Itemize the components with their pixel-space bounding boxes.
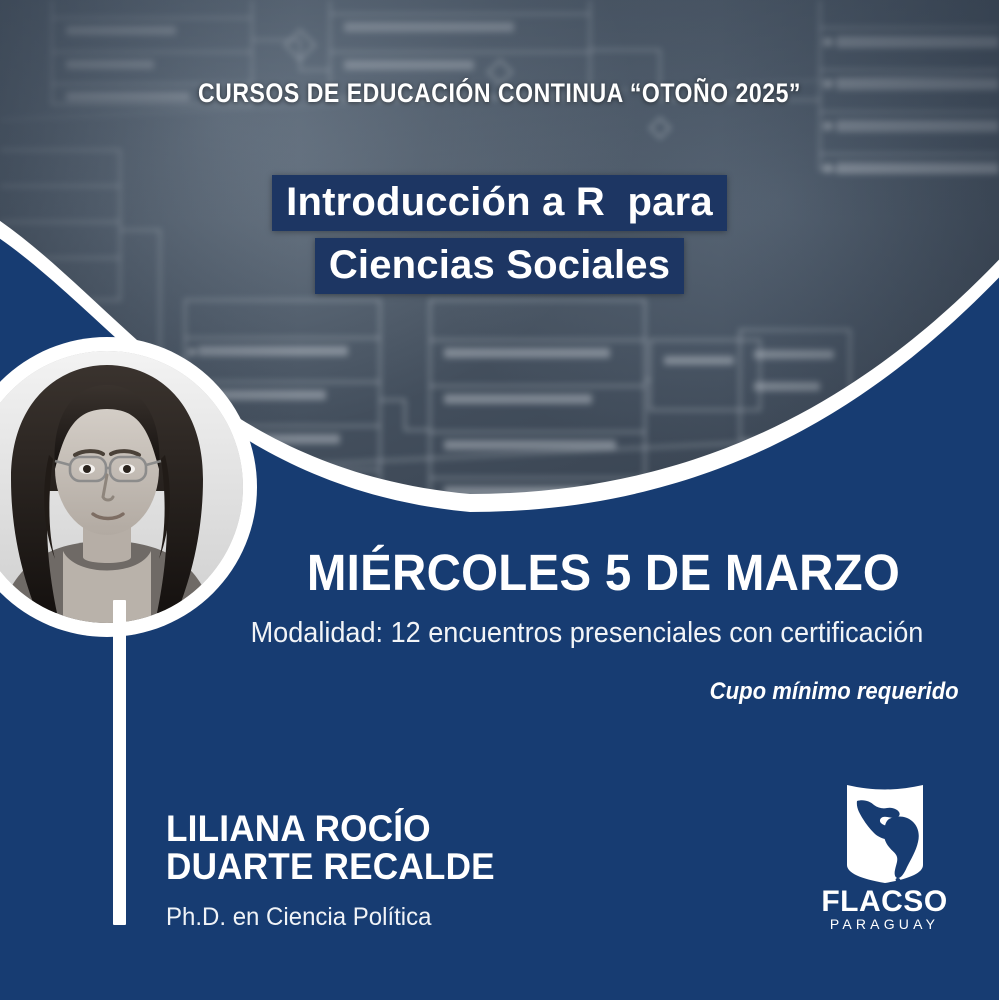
- course-title: Introducción a R para Ciencias Sociales: [0, 175, 999, 301]
- flacso-logo-mark: FLACSO PARAGUAY: [813, 779, 956, 932]
- speaker-role: Ph.D. en Ciencia Política: [166, 903, 431, 932]
- speaker-name: LILIANA ROCÍO DUARTE RECALDE: [166, 810, 495, 887]
- portrait-stem-line: [113, 600, 126, 925]
- course-date: MIÉRCOLES 5 DE MARZO: [275, 543, 933, 602]
- course-poster: CURSOS DE EDUCACIÓN CONTINUA “OTOÑO 2025…: [0, 0, 999, 1000]
- kicker-text: CURSOS DE EDUCACIÓN CONTINUA “OTOÑO 2025…: [65, 78, 934, 109]
- course-modality: Modalidad: 12 encuentros presenciales co…: [224, 617, 950, 650]
- course-title-line-2: Ciencias Sociales: [315, 238, 684, 294]
- logo-country: PARAGUAY: [830, 916, 939, 932]
- course-title-line-1: Introducción a R para: [272, 175, 727, 231]
- flacso-logo: FLACSO PARAGUAY: [813, 779, 956, 932]
- logo-wordmark: FLACSO: [821, 885, 947, 918]
- quota-note: Cupo mínimo requerido: [710, 678, 959, 706]
- speaker-portrait: [0, 337, 257, 637]
- speaker-name-line-2: DUARTE RECALDE: [166, 848, 495, 886]
- speaker-name-line-1: LILIANA ROCÍO: [166, 810, 495, 848]
